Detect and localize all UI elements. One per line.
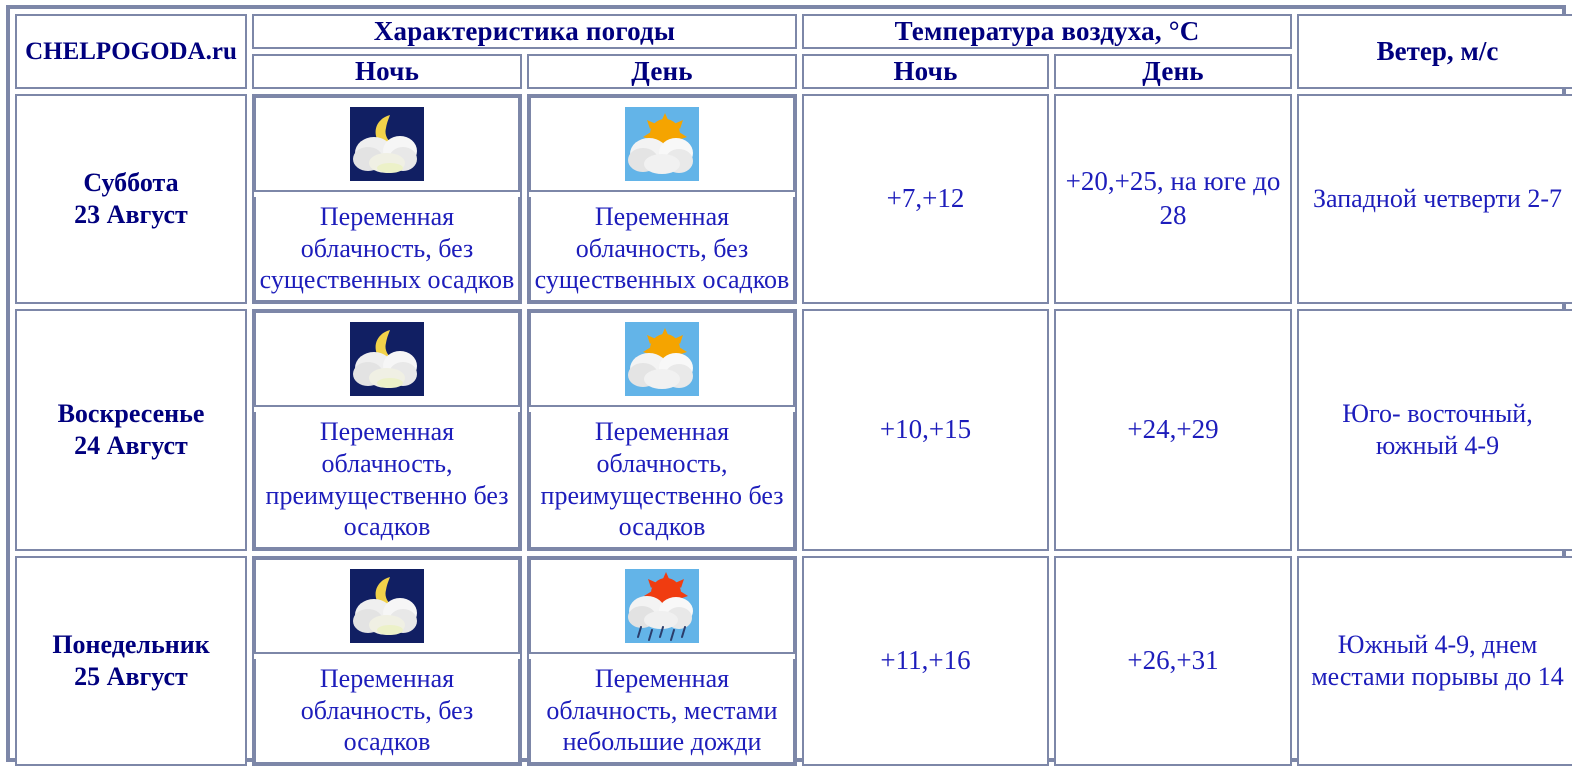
header-temp-group-label: Температура воздуха, °C bbox=[804, 16, 1290, 47]
table-row: Понедельник 25 Август bbox=[15, 556, 1572, 766]
temp-night-cell: +11,+16 bbox=[802, 556, 1049, 766]
header-temp-night-label: Ночь bbox=[804, 56, 1047, 87]
night-weather-cell: Переменная облачность, без существенных … bbox=[252, 94, 522, 304]
header-temp-night: Ночь bbox=[802, 54, 1049, 89]
brand-label: CHELPOGODA.ru bbox=[17, 38, 245, 66]
temp-day-label: +26,+31 bbox=[1056, 644, 1290, 678]
day-desc-cell: Переменная облачность, местами небольшие… bbox=[529, 659, 795, 764]
temp-day-label: +20,+25, на юге до 28 bbox=[1056, 165, 1290, 233]
temp-night-cell: +10,+15 bbox=[802, 309, 1049, 551]
header-weather-day: День bbox=[527, 54, 797, 89]
wind-label: Западной четверти 2-7 bbox=[1299, 183, 1572, 216]
temp-day-label: +24,+29 bbox=[1056, 413, 1290, 447]
day-desc-label: Переменная облачность, преимущественно б… bbox=[531, 412, 793, 547]
temp-day-cell: +26,+31 bbox=[1054, 556, 1292, 766]
day-date-label: 25 Август bbox=[74, 662, 188, 691]
night-desc-cell: Переменная облачность, без осадков bbox=[254, 659, 520, 764]
header-weather-night-label: Ночь bbox=[254, 56, 520, 87]
header-weather-group-label: Характеристика погоды bbox=[254, 16, 795, 47]
header-temp-group: Температура воздуха, °C bbox=[802, 14, 1292, 49]
forecast-table-frame: CHELPOGODA.ru Характеристика погоды Темп… bbox=[6, 5, 1566, 762]
temp-night-label: +10,+15 bbox=[804, 413, 1047, 447]
header-wind-group-label: Ветер, м/с bbox=[1299, 36, 1572, 67]
day-date-label: 23 Август bbox=[74, 200, 188, 229]
night-desc-label: Переменная облачность, без существенных … bbox=[256, 197, 518, 300]
sun-clouds-icon bbox=[625, 322, 699, 396]
day-icon-cell bbox=[529, 558, 795, 654]
day-weather-cell: Переменная облачность, местами небольшие… bbox=[527, 556, 797, 766]
temp-day-cell: +20,+25, на юге до 28 bbox=[1054, 94, 1292, 304]
night-icon-cell bbox=[254, 311, 520, 407]
wind-cell: Южный 4-9, днем местами порывы до 14 bbox=[1297, 556, 1572, 766]
moon-clouds-icon bbox=[350, 569, 424, 643]
day-weather-cell: Переменная облачность, преимущественно б… bbox=[527, 309, 797, 551]
day-cell: Воскресенье 24 Август bbox=[15, 309, 247, 551]
night-desc-cell: Переменная облачность, без существенных … bbox=[254, 197, 520, 302]
day-weather-cell: Переменная облачность, без существенных … bbox=[527, 94, 797, 304]
day-name-label: Суббота bbox=[83, 168, 178, 197]
sun-clouds-icon bbox=[625, 107, 699, 181]
wind-label: Южный 4-9, днем местами порывы до 14 bbox=[1299, 629, 1572, 694]
day-cell: Понедельник 25 Август bbox=[15, 556, 247, 766]
night-weather-cell: Переменная облачность, без осадков bbox=[252, 556, 522, 766]
header-weather-day-label: День bbox=[529, 56, 795, 87]
day-icon-cell bbox=[529, 96, 795, 192]
night-icon-cell bbox=[254, 96, 520, 192]
day-name-label: Воскресенье bbox=[58, 399, 205, 428]
day-desc-label: Переменная облачность, местами небольшие… bbox=[531, 659, 793, 762]
moon-clouds-icon bbox=[350, 322, 424, 396]
moon-clouds-icon bbox=[350, 107, 424, 181]
night-desc-label: Переменная облачность, без осадков bbox=[256, 659, 518, 762]
temp-night-label: +7,+12 bbox=[804, 182, 1047, 216]
night-desc-label: Переменная облачность, преимущественно б… bbox=[256, 412, 518, 547]
temp-night-cell: +7,+12 bbox=[802, 94, 1049, 304]
night-weather-cell: Переменная облачность, преимущественно б… bbox=[252, 309, 522, 551]
day-desc-cell: Переменная облачность, преимущественно б… bbox=[529, 412, 795, 549]
header-temp-day-label: День bbox=[1056, 56, 1290, 87]
sun-clouds-rain-icon bbox=[625, 569, 699, 643]
day-desc-label: Переменная облачность, без существенных … bbox=[531, 197, 793, 300]
night-icon-cell bbox=[254, 558, 520, 654]
day-name-label: Понедельник bbox=[52, 630, 209, 659]
day-icon-cell bbox=[529, 311, 795, 407]
table-row: Суббота 23 Август bbox=[15, 94, 1572, 304]
night-desc-cell: Переменная облачность, преимущественно б… bbox=[254, 412, 520, 549]
brand-cell: CHELPOGODA.ru bbox=[15, 14, 247, 89]
day-date-label: 24 Август bbox=[74, 431, 188, 460]
temp-night-label: +11,+16 bbox=[804, 644, 1047, 678]
temp-day-cell: +24,+29 bbox=[1054, 309, 1292, 551]
table-row: Воскресенье 24 Август bbox=[15, 309, 1572, 551]
header-weather-group: Характеристика погоды bbox=[252, 14, 797, 49]
header-temp-day: День bbox=[1054, 54, 1292, 89]
header-row-groups: CHELPOGODA.ru Характеристика погоды Темп… bbox=[15, 14, 1572, 49]
header-weather-night: Ночь bbox=[252, 54, 522, 89]
forecast-table: CHELPOGODA.ru Характеристика погоды Темп… bbox=[10, 9, 1572, 771]
wind-label: Юго- восточный, южный 4-9 bbox=[1299, 398, 1572, 463]
header-wind-group: Ветер, м/с bbox=[1297, 14, 1572, 89]
day-desc-cell: Переменная облачность, без существенных … bbox=[529, 197, 795, 302]
day-cell: Суббота 23 Август bbox=[15, 94, 247, 304]
wind-cell: Юго- восточный, южный 4-9 bbox=[1297, 309, 1572, 551]
wind-cell: Западной четверти 2-7 bbox=[1297, 94, 1572, 304]
